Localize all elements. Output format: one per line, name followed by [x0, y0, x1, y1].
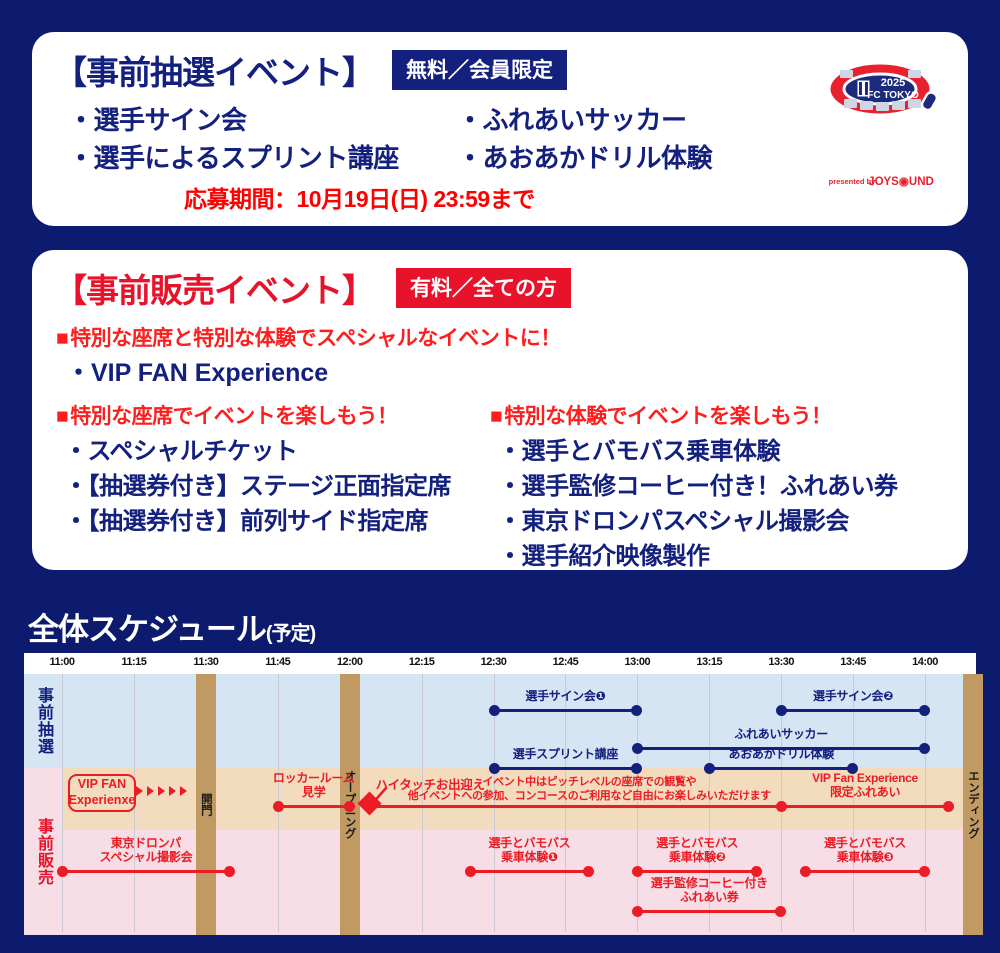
- tick-label: 11:15: [121, 656, 146, 668]
- schedule-event-label: 東京ドロンパスペシャル撮影会: [100, 837, 193, 864]
- schedule-event-label: あおあかドリル体験: [729, 748, 834, 761]
- seats-item-1: ・【抽選券付き】ステージ正面指定席: [64, 466, 451, 501]
- tick-label: 13:45: [840, 656, 866, 668]
- tick-label: 11:00: [49, 656, 74, 668]
- tick-label: 11:45: [265, 656, 290, 668]
- arrow-icon: [169, 786, 176, 796]
- lottery-tag: 無料／会員限定: [392, 50, 567, 90]
- seats-item-2: ・【抽選券付き】前列サイド指定席: [64, 501, 428, 536]
- schedule-event-label: 選手とバモバス乗車体験❶: [488, 837, 570, 864]
- gridline: [853, 674, 854, 932]
- gantt-body: 事前抽選 事前販売 開門オープニングエンディング選手サイン会❶選手サイン会❷ふれ…: [24, 674, 976, 932]
- logo-year: 2025: [881, 77, 905, 89]
- exp-item-1: ・選手監修コーヒー付き！ふれあい券: [498, 466, 898, 501]
- milestone-bar: エンディング: [963, 674, 983, 935]
- schedule-event-label: ロッカールーム見学: [273, 772, 355, 799]
- lottery-title: 【事前抽選イベント】: [54, 46, 374, 94]
- schedule-title-sub: (予定): [266, 623, 315, 645]
- schedule-gantt: 11:0011:1511:3011:4512:0012:1512:3012:45…: [22, 651, 978, 934]
- logo-club: FC TOKYO: [867, 90, 919, 101]
- schedule-event-label: VIP Fan Experience限定ふれあい: [812, 772, 918, 799]
- band-label-lottery: 事前抽選: [24, 674, 62, 768]
- section-experience-heading: 特別な体験でイベントを楽しもう！: [490, 400, 832, 430]
- tick-label: 12:45: [553, 656, 579, 668]
- tick-label: 12:30: [481, 656, 507, 668]
- schedule-event-label: 選手サイン会❶: [525, 690, 605, 703]
- logo-sponsor: JOYS◉UND: [868, 176, 934, 188]
- arrow-icon: [158, 786, 165, 796]
- schedule-title: 全体スケジュール(予定): [28, 604, 315, 649]
- logo-communication: COMMUNICATION: [806, 130, 953, 150]
- exp-item-3: ・選手紹介映像製作: [498, 536, 710, 571]
- milestone-bar: 開門: [196, 674, 216, 935]
- free-participation-note: イベント中はピッチレベルの座席での観覧や 他イベントへの参加、コンコースのご利用…: [407, 776, 771, 804]
- exp-item-0: ・選手とバモバス乗車体験: [498, 431, 780, 466]
- lottery-item-2: ・ふれあいサッカー: [457, 100, 687, 137]
- vip-fan-experience-item: ・VIP FAN Experience: [66, 353, 328, 389]
- lottery-item-0: ・選手サイン会: [68, 100, 247, 137]
- tick-label: 11:30: [193, 656, 218, 668]
- sale-tag: 有料／全ての方: [396, 268, 571, 308]
- vip-arrow-icons: [136, 786, 187, 796]
- logo-svg: 2025 FC TOKYO FAN COMMUNICATION DAY pres…: [800, 42, 960, 190]
- sale-title: 【事前販売イベント】: [54, 264, 374, 312]
- time-axis: 11:0011:1511:3011:4512:0012:1512:3012:45…: [24, 653, 976, 674]
- logo-fan: FAN: [865, 116, 895, 131]
- fan-communication-day-logo: 2025 FC TOKYO FAN COMMUNICATION DAY pres…: [800, 42, 960, 190]
- arrow-icon: [180, 786, 187, 796]
- schedule-event-label: 選手スプリント講座: [513, 748, 618, 761]
- tick-label: 14:00: [912, 656, 938, 668]
- sale-header: 【事前販売イベント】 有料／全ての方: [54, 264, 571, 312]
- sale-event-card: 【事前販売イベント】 有料／全ての方 特別な座席と特別な体験でスペシャルなイベン…: [32, 250, 968, 570]
- band-label-sale: 事前販売: [24, 768, 62, 935]
- gridline: [62, 674, 63, 932]
- arrow-icon: [136, 786, 143, 796]
- schedule-event-label: 選手サイン会❷: [813, 690, 893, 703]
- lottery-item-3: ・あおあかドリル体験: [457, 138, 712, 175]
- section-seats-heading: 特別な座席でイベントを楽しもう！: [56, 400, 398, 430]
- tick-label: 13:15: [696, 656, 722, 668]
- schedule-event-label: ふれあいサッカー: [734, 728, 828, 741]
- tick-label: 13:30: [768, 656, 794, 668]
- schedule-event-label: 選手とバモバス乗車体験❷: [656, 837, 738, 864]
- tick-label: 12:15: [409, 656, 435, 668]
- lottery-header: 【事前抽選イベント】 無料／会員限定: [54, 46, 567, 94]
- application-period: 応募期間：10月19日(日) 23:59まで: [184, 180, 535, 214]
- hitouch-arrow-icon: [366, 786, 394, 810]
- arrow-icon: [147, 786, 154, 796]
- vip-fan-experience-badge: VIP FANExperienxe: [68, 774, 136, 812]
- schedule-event-label: 選手とバモバス乗車体験❸: [824, 837, 906, 864]
- section-special-heading: 特別な座席と特別な体験でスペシャルなイベントに！: [56, 322, 561, 352]
- seats-item-0: ・スペシャルチケット: [64, 431, 297, 466]
- lottery-item-1: ・選手によるスプリント講座: [68, 138, 399, 175]
- exp-item-2: ・東京ドロンパスペシャル撮影会: [498, 501, 849, 536]
- tick-label: 12:00: [337, 656, 363, 668]
- schedule-event-label: 選手監修コーヒー付きふれあい券: [651, 877, 768, 904]
- schedule-title-main: 全体スケジュール: [28, 612, 266, 647]
- tick-label: 13:00: [625, 656, 651, 668]
